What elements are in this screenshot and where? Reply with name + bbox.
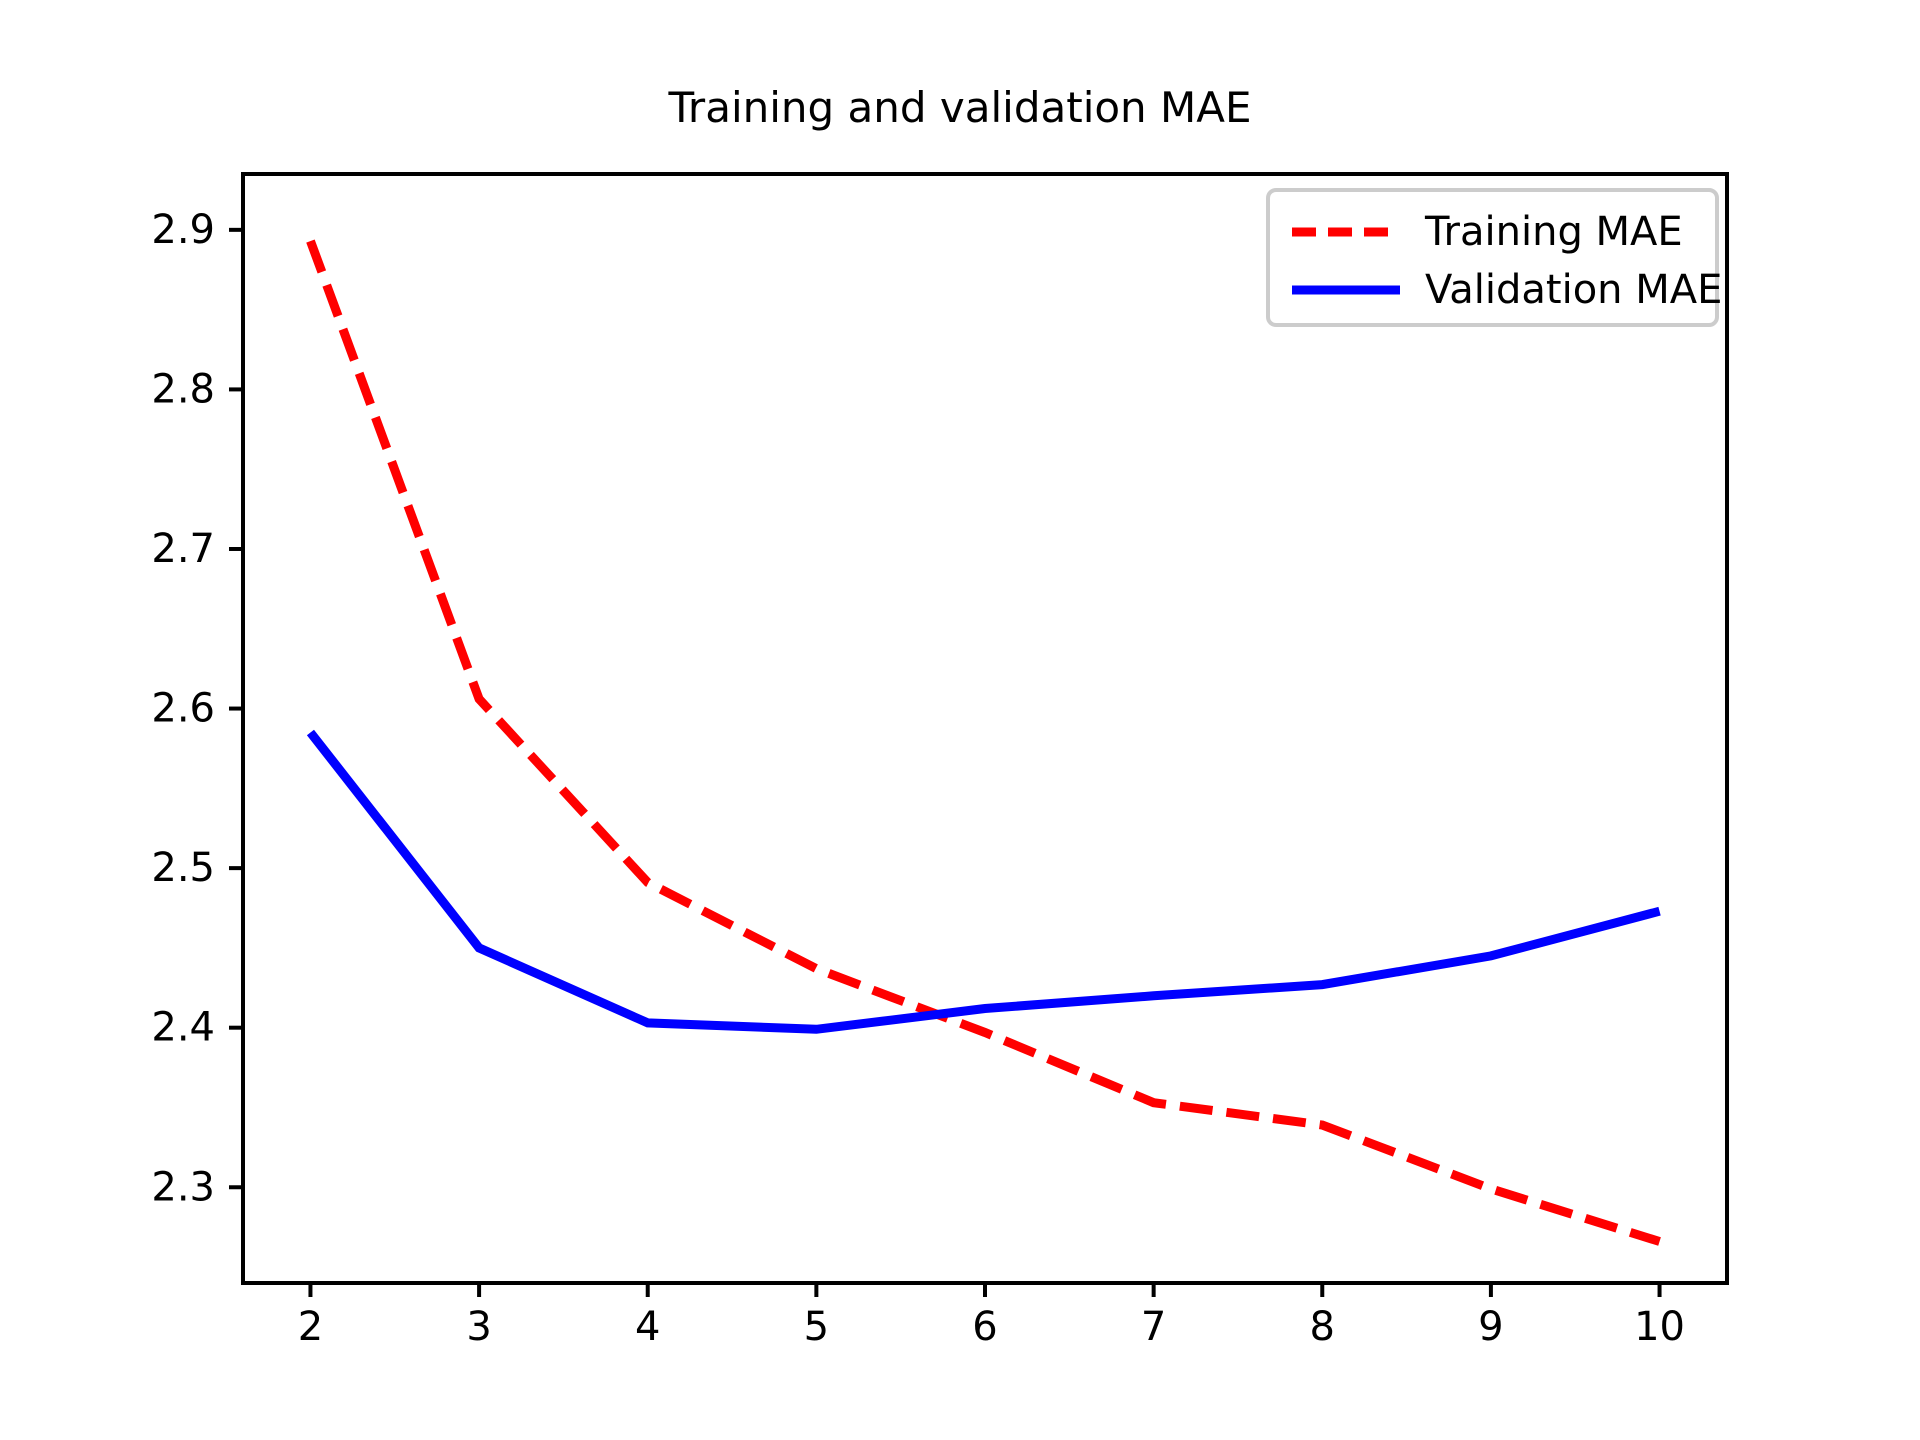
y-axis-ticks: 2.32.42.52.62.72.82.9 — [151, 207, 243, 1210]
figure-canvas: Training and validation MAE 2.32.42.52.6… — [0, 0, 1920, 1440]
legend-label-validation-mae: Validation MAE — [1425, 267, 1722, 313]
x-tick-label: 6 — [972, 1304, 997, 1350]
y-tick-label: 2.7 — [151, 526, 215, 572]
x-tick-label: 8 — [1310, 1304, 1335, 1350]
x-tick-label: 3 — [466, 1304, 491, 1350]
x-tick-label: 7 — [1141, 1304, 1166, 1350]
y-tick-label: 2.9 — [151, 207, 215, 253]
chart-legend: Training MAEValidation MAE — [1268, 190, 1722, 325]
y-tick-label: 2.3 — [151, 1164, 215, 1210]
x-tick-label: 10 — [1634, 1304, 1685, 1350]
y-tick-label: 2.6 — [151, 686, 215, 732]
x-tick-label: 5 — [804, 1304, 829, 1350]
x-tick-label: 9 — [1478, 1304, 1503, 1350]
x-axis-ticks: 2345678910 — [298, 1283, 1685, 1350]
y-tick-label: 2.4 — [151, 1005, 215, 1051]
legend-label-training-mae: Training MAE — [1424, 209, 1683, 255]
axes-frame — [243, 174, 1727, 1283]
x-tick-label: 4 — [635, 1304, 660, 1350]
plot-area: 2.32.42.52.62.72.82.9 2345678910 Trainin… — [0, 0, 1920, 1440]
y-tick-label: 2.8 — [151, 366, 215, 412]
x-tick-label: 2 — [298, 1304, 323, 1350]
y-tick-label: 2.5 — [151, 845, 215, 891]
